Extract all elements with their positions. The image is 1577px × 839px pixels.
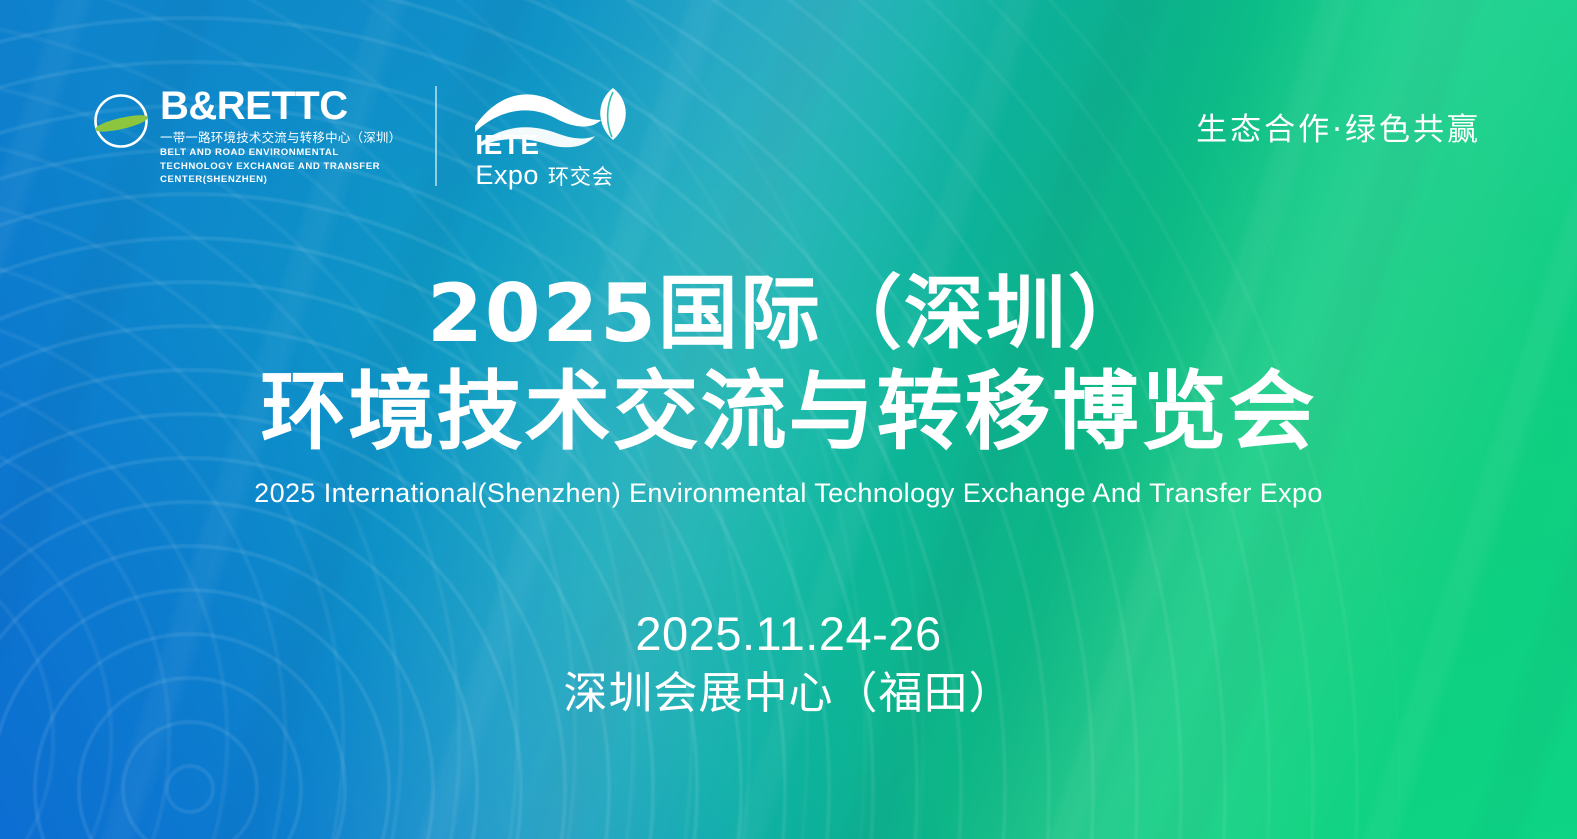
event-date: 2025.11.24-26 [0, 606, 1577, 662]
brettc-wordmark: B&RETTC [160, 86, 401, 126]
iete-wordmark-block: IETE Expo 环交会 [475, 130, 614, 190]
iete-expo-logo: IETE Expo 环交会 [473, 86, 633, 190]
banner-content: B&RETTC 一带一路环境技术交流与转移中心（深圳） BELT AND ROA… [0, 0, 1577, 839]
event-venue: 深圳会展中心（福田） [0, 666, 1577, 722]
headline-block: 2025国际（深圳） 环境技术交流与转移博览会 2025 Internation… [0, 268, 1577, 509]
brettc-english-line-1: BELT AND ROAD ENVIRONMENTAL [160, 147, 401, 159]
brettc-english-line-3: CENTER(SHENZHEN) [160, 174, 401, 186]
circle-with-green-band-icon [92, 92, 150, 150]
brettc-english-line-2: TECHNOLOGY EXCHANGE AND TRANSFER [160, 161, 401, 173]
title-line-2: 环境技术交流与转移博览会 [0, 362, 1577, 462]
brettc-chinese-name: 一带一路环境技术交流与转移中心（深圳） [160, 130, 401, 145]
iete-bottom-row: Expo 环交会 [475, 160, 614, 190]
brettc-logo: B&RETTC 一带一路环境技术交流与转移中心（深圳） BELT AND ROA… [92, 86, 437, 186]
iete-abbreviation: IETE [475, 130, 614, 159]
logo-row: B&RETTC 一带一路环境技术交流与转移中心（深圳） BELT AND ROA… [92, 86, 633, 190]
title-line-1: 2025国际（深圳） [0, 268, 1577, 360]
iete-expo-word: Expo [475, 160, 539, 190]
event-info-block: 2025.11.24-26 深圳会展中心（福田） [0, 606, 1577, 722]
slogan-text: 生态合作·绿色共赢 [1196, 104, 1481, 149]
expo-banner: B&RETTC 一带一路环境技术交流与转移中心（深圳） BELT AND ROA… [0, 0, 1577, 839]
iete-chinese-short: 环交会 [548, 167, 614, 188]
brettc-text-block: B&RETTC 一带一路环境技术交流与转移中心（深圳） BELT AND ROA… [160, 86, 401, 186]
subtitle-english: 2025 International(Shenzhen) Environment… [0, 478, 1577, 509]
